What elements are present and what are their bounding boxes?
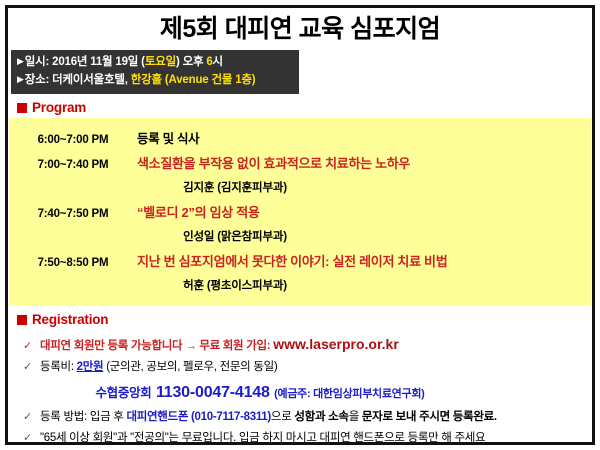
table-row: 7:00~7:40 PM 색소질환을 부작용 없이 효과적으로 치료하는 노하우 [9, 150, 591, 175]
program-title: 색소질환을 부작용 없이 효과적으로 치료하는 노하우 [137, 153, 410, 172]
program-time: 7:40~7:50 PM [9, 208, 137, 220]
registration-method-middle: 으로 [271, 411, 294, 423]
list-item: ✓ "65세 이상 회원"과 "전공의"는 무료입니다. 입금 하지 마시고 대… [9, 428, 591, 445]
program-speaker: 인성일 (맑은참피부과) [9, 224, 591, 248]
bank-account-line: 수협중앙회 1130-0047-4148 (예금주: 대한임상피부치료연구회) [9, 378, 591, 407]
symposium-poster: 제5회 대피연 교육 심포지엄 ▶일시: 2016년 11월 19일 (토요일)… [0, 0, 600, 450]
registration-free-text: "65세 이상 회원"과 "전공의"는 무료입니다. 입금 하지 마시고 대피연… [40, 431, 485, 445]
registration-method-middle2: 을 [349, 411, 362, 423]
bank-account-owner: (예금주: 대한임상피부치료연구회) [274, 388, 424, 400]
registration-heading-label: Registration [32, 312, 108, 327]
registration-phone: 대피연핸드폰 (010-7117-8311) [126, 411, 270, 423]
registration-fee-suffix: (군의관, 공보의, 펠로우, 전문의 동일) [103, 361, 277, 373]
table-row: 6:00~7:00 PM 등록 및 식사 [9, 125, 591, 150]
program-time: 7:50~8:50 PM [9, 257, 137, 269]
event-info-box: ▶일시: 2016년 11월 19일 (토요일) 오후 6시 ▶장소: 더케이서… [11, 50, 299, 95]
program-title: 지난 번 심포지엄에서 못다한 이야기: 실전 레이저 치료 비법 [137, 251, 447, 270]
program-heading-label: Program [32, 100, 86, 115]
page-title: 제5회 대피연 교육 심포지엄 [9, 9, 591, 48]
program-time: 7:00~7:40 PM [9, 159, 137, 171]
list-item: ✓ 등록 방법: 입금 후 대피연핸드폰 (010-7117-8311)으로 성… [9, 407, 591, 428]
triangle-bullet-icon: ▶ [17, 56, 24, 66]
registration-method-bold2: 문자 [362, 411, 383, 423]
program-time: 6:00~7:00 PM [9, 134, 137, 146]
check-icon: ✓ [23, 362, 40, 373]
event-date-line: ▶일시: 2016년 11월 19일 (토요일) 오후 6시 [17, 54, 299, 72]
registration-membership-text: 대피연 회원만 등록 가능합니다 → 무료 회원 가입: www.laserpr… [40, 335, 399, 354]
list-item: ✓ 대피연 회원만 등록 가능합니다 → 무료 회원 가입: www.laser… [9, 332, 591, 357]
registration-method-prefix: 등록 방법: 입금 후 [40, 411, 126, 423]
bank-account-number: 1130-0047-4148 [156, 384, 270, 401]
program-title: 등록 및 식사 [137, 128, 199, 147]
event-venue-line: ▶장소: 더케이서울호텔, 한강홀 (Avenue 건물 1층) [17, 72, 299, 90]
poster-inner: 제5회 대피연 교육 심포지엄 ▶일시: 2016년 11월 19일 (토요일)… [8, 8, 592, 442]
red-square-bullet-icon [17, 103, 27, 113]
program-title: “벨로디 2”의 임상 적용 [137, 202, 260, 221]
registration-fee-text: 등록비: 2만원 (군의관, 공보의, 펠로우, 전문의 동일) [40, 360, 277, 375]
registration-method-suffix: 로 보내 주시면 등록완료. [382, 411, 496, 423]
registration-list: ✓ 대피연 회원만 등록 가능합니다 → 무료 회원 가입: www.laser… [9, 330, 591, 445]
program-section-heading: Program [9, 94, 591, 118]
program-speaker: 김지훈 (김지훈피부과) [9, 175, 591, 199]
check-icon: ✓ [23, 412, 40, 423]
event-date-weekday: 토요일 [145, 56, 176, 68]
red-square-bullet-icon [17, 315, 27, 325]
list-item: ✓ 등록비: 2만원 (군의관, 공보의, 펠로우, 전문의 동일) [9, 357, 591, 378]
event-venue-prefix: 장소: 더케이서울호텔, [25, 74, 131, 86]
registration-section-heading: Registration [9, 306, 591, 330]
registration-fee-prefix: 등록비: [40, 361, 77, 373]
bank-name: 수협중앙회 [95, 386, 151, 400]
event-venue-hall: 한강홀 (Avenue 건물 1층) [131, 74, 256, 86]
triangle-bullet-icon: ▶ [17, 74, 24, 84]
program-speaker: 허훈 (평초이스피부과) [9, 273, 591, 297]
check-icon: ✓ [23, 433, 40, 444]
event-date-middle: ) 오후 [176, 56, 206, 68]
check-icon: ✓ [23, 341, 40, 352]
registration-url[interactable]: www.laserpro.or.kr [273, 336, 399, 352]
registration-membership-label: 대피연 회원만 등록 가능합니다 → 무료 회원 가입: [40, 340, 270, 352]
event-date-suffix: 시 [213, 56, 223, 68]
event-date-prefix: 일시: 2016년 11월 19일 ( [25, 56, 145, 68]
registration-method-bold1: 성함과 소속 [294, 411, 348, 423]
table-row: 7:50~8:50 PM 지난 번 심포지엄에서 못다한 이야기: 실전 레이저… [9, 248, 591, 273]
table-row: 7:40~7:50 PM “벨로디 2”의 임상 적용 [9, 199, 591, 224]
registration-fee-amount: 2만원 [77, 361, 104, 373]
poster-frame: 제5회 대피연 교육 심포지엄 ▶일시: 2016년 11월 19일 (토요일)… [5, 5, 595, 445]
program-table: 6:00~7:00 PM 등록 및 식사 7:00~7:40 PM 색소질환을 … [9, 118, 591, 306]
registration-method-text: 등록 방법: 입금 후 대피연핸드폰 (010-7117-8311)으로 성함과… [40, 410, 497, 425]
